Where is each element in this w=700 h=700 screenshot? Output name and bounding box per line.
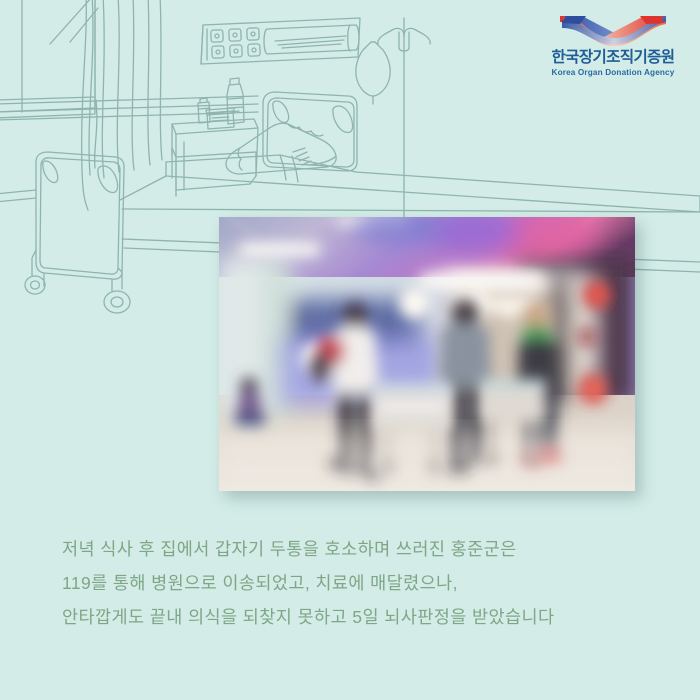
logo-name-en: Korea Organ Donation Agency	[544, 69, 682, 77]
emergency-room-ambulance-photo	[219, 217, 635, 491]
wall-gas-outlet-panel	[201, 18, 360, 64]
hospital-bed-icon	[120, 155, 700, 212]
caption-line-3: 안타깝게도 끝내 의식을 되찾지 못하고 5일 뇌사판정을 받았습니다	[62, 600, 662, 634]
wall-light-fixture-icon	[264, 25, 359, 54]
medicine-bottles-icon	[198, 78, 244, 129]
organization-logo: 한국장기조직기증원 Korea Organ Donation Agency	[544, 12, 682, 77]
iv-drip-stand-icon	[356, 18, 430, 218]
curtain-icon	[82, 0, 162, 210]
pillow-icon	[226, 123, 336, 174]
nightstand-icon	[172, 119, 258, 196]
caption-line-1: 저녁 식사 후 집에서 갑자기 두통을 호소하며 쓰러진 홍준군은	[62, 532, 662, 566]
card-root: 한국장기조직기증원 Korea Organ Donation Agency	[0, 0, 700, 700]
ribbon-cross-mark-icon	[552, 12, 674, 48]
caption-line-2: 119를 통해 병원으로 이송되었고, 치료에 매달렸으나,	[62, 566, 662, 600]
bed-headboard-icon	[263, 92, 357, 171]
caption-text: 저녁 식사 후 집에서 갑자기 두통을 호소하며 쓰러진 홍준군은 119를 통…	[62, 532, 662, 634]
logo-name-ko: 한국장기조직기증원	[544, 50, 682, 66]
window-icon	[0, 0, 258, 120]
